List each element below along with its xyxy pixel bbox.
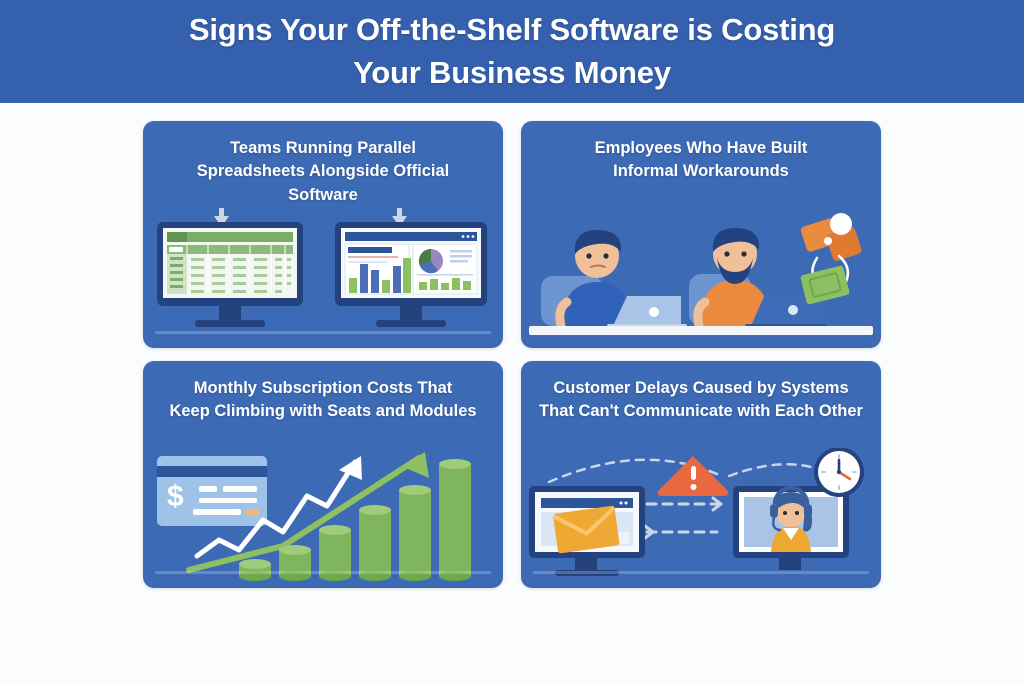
panel-title-line-1: Employees Who Have Built [535,137,867,160]
dashed-arrow-icon [647,498,721,510]
panel-informal-workarounds[interactable]: Employees Who Have Built Informal Workar… [521,121,881,348]
panel-title-line-1: Teams Running Parallel [157,137,489,160]
invoice-icon: $ [157,456,267,526]
page-title-line-1: Signs Your Off-the-Shelf Software is Cos… [132,9,892,51]
monitor-icon [335,222,487,327]
panel-title-line-1: Monthly Subscription Costs That [157,377,489,400]
panel-title-line-2: Informal Workarounds [535,160,867,183]
floor-line [533,571,869,574]
illustration-customer-delays [521,448,881,588]
bar [359,505,391,581]
panel-rising-subscription-costs[interactable]: Monthly Subscription Costs That Keep Cli… [143,361,503,588]
dollar-icon: $ [167,480,184,513]
panel-customer-delays[interactable]: Customer Delays Caused by Systems That C… [521,361,881,588]
panel-title-line-1: Customer Delays Caused by Systems [535,377,867,400]
bar [399,485,431,581]
floor-line [155,331,491,334]
monitor-icon [157,222,303,327]
panel-title-line-3: Software [157,184,489,207]
page-title-line-2: Your Business Money [132,52,892,94]
bar-chart-icon [239,459,471,581]
panel-title: Monthly Subscription Costs That Keep Cli… [157,377,489,424]
panel-title-line-2: Keep Climbing with Seats and Modules [157,400,489,423]
bar [279,545,311,581]
dashed-arrow-icon [645,526,717,538]
clock-icon [814,448,864,497]
green-patch-icon [800,265,850,305]
illustration-rising-costs: $ [143,448,503,588]
page-title: Signs Your Off-the-Shelf Software is Cos… [132,9,892,93]
floor-line [155,571,491,574]
panel-title: Customer Delays Caused by Systems That C… [535,377,867,424]
window-dots-icon [462,235,475,238]
panel-title: Teams Running Parallel Spreadsheets Alon… [157,137,489,207]
dashed-arrow-icon [729,464,821,476]
panel-parallel-spreadsheets[interactable]: Teams Running Parallel Spreadsheets Alon… [143,121,503,348]
monitor-icon [733,486,849,570]
panel-grid: Teams Running Parallel Spreadsheets Alon… [143,121,881,588]
illustration-two-monitors [143,208,503,348]
illustration-employees-workarounds [521,208,881,348]
monitor-icon [529,486,645,576]
header-bar: Signs Your Off-the-Shelf Software is Cos… [0,0,1024,103]
bar [439,459,471,581]
panel-title: Employees Who Have Built Informal Workar… [535,137,867,184]
bar [239,559,271,581]
panel-title-line-2: That Can't Communicate with Each Other [535,400,867,423]
panel-title-line-2: Spreadsheets Alongside Official [157,160,489,183]
envelope-icon [553,505,620,553]
